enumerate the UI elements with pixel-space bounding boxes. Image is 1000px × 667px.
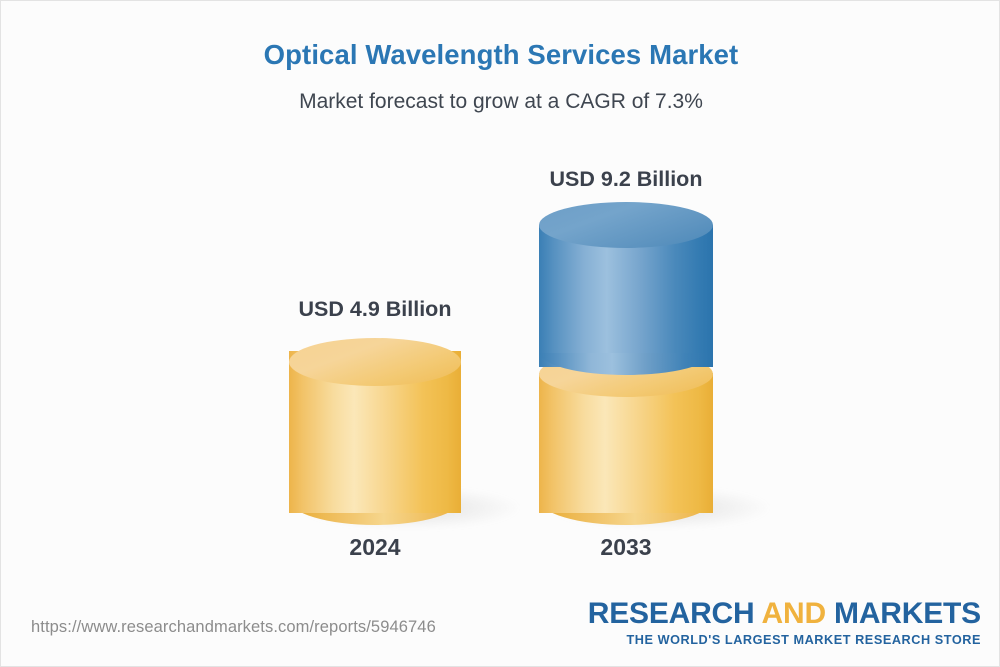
logo-word-and: AND	[762, 597, 826, 630]
logo-tagline: THE WORLD'S LARGEST MARKET RESEARCH STOR…	[588, 633, 981, 647]
report-url-link[interactable]: https://www.researchandmarkets.com/repor…	[31, 618, 436, 637]
cylinder-2033-upper-top	[539, 202, 713, 248]
cylinder-2033-upper-base	[539, 353, 713, 375]
bar-value-label-2033: USD 9.2 Billion	[506, 167, 746, 192]
logo-word-research: RESEARCH	[588, 597, 762, 630]
cylinder-2024-top	[289, 338, 461, 386]
bar-category-label-2024: 2024	[255, 534, 495, 561]
bar-category-label-2033: 2033	[506, 534, 746, 561]
research-and-markets-logo[interactable]: RESEARCH AND MARKETS THE WORLD'S LARGEST…	[588, 598, 981, 647]
infographic-canvas: Optical Wavelength Services Market Marke…	[0, 0, 1000, 667]
chart-plot-area: USD 4.9 Billion 2024 USD 9.2 Billion	[1, 1, 1000, 601]
logo-wordmark: RESEARCH AND MARKETS	[588, 598, 981, 630]
bar-value-label-2024: USD 4.9 Billion	[255, 297, 495, 322]
logo-word-markets: MARKETS	[826, 597, 981, 630]
cylinder-2033-upper-base-clip	[539, 353, 713, 375]
footer: https://www.researchandmarkets.com/repor…	[1, 580, 1000, 666]
